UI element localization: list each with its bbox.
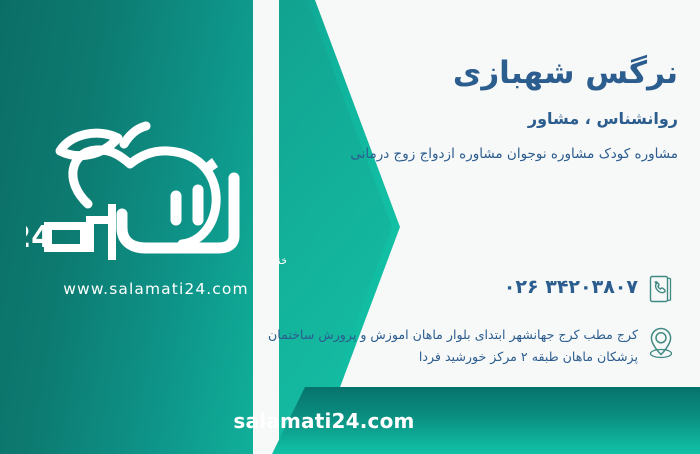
logo-number: 24 <box>26 220 52 255</box>
phone-number[interactable]: ۳۴۲۰۳۸۰۷ ۰۲۶ <box>248 272 644 298</box>
brand-logo: 24 به راحتی یک لبخند www.salamati24.com <box>26 108 286 308</box>
address-text: کرج مطب کرج جهانشهر ابتدای بلوار ماهان ا… <box>248 324 644 368</box>
card-content: نرگس شهبازی روانشناس ، مشاور مشاوره کودک… <box>248 0 678 454</box>
person-title: روانشناس ، مشاور <box>248 109 678 128</box>
business-card: 24 به راحتی یک لبخند www.salamati24.com … <box>0 0 700 454</box>
location-pin-icon <box>644 324 678 364</box>
contact-rows: ۳۴۲۰۳۸۰۷ ۰۲۶ کرج مطب کرج جهانشهر ابتدای … <box>248 272 678 380</box>
person-description: مشاوره کودک مشاوره نوجوان مشاوره ازدواج … <box>248 143 678 167</box>
logo-website-url[interactable]: www.salamati24.com <box>26 280 286 298</box>
phone-book-icon <box>644 272 678 312</box>
contact-row-address: کرج مطب کرج جهانشهر ابتدای بلوار ماهان ا… <box>248 324 678 368</box>
contact-row-phone: ۳۴۲۰۳۸۰۷ ۰۲۶ <box>248 272 678 312</box>
person-name: نرگس شهبازی <box>248 55 678 92</box>
